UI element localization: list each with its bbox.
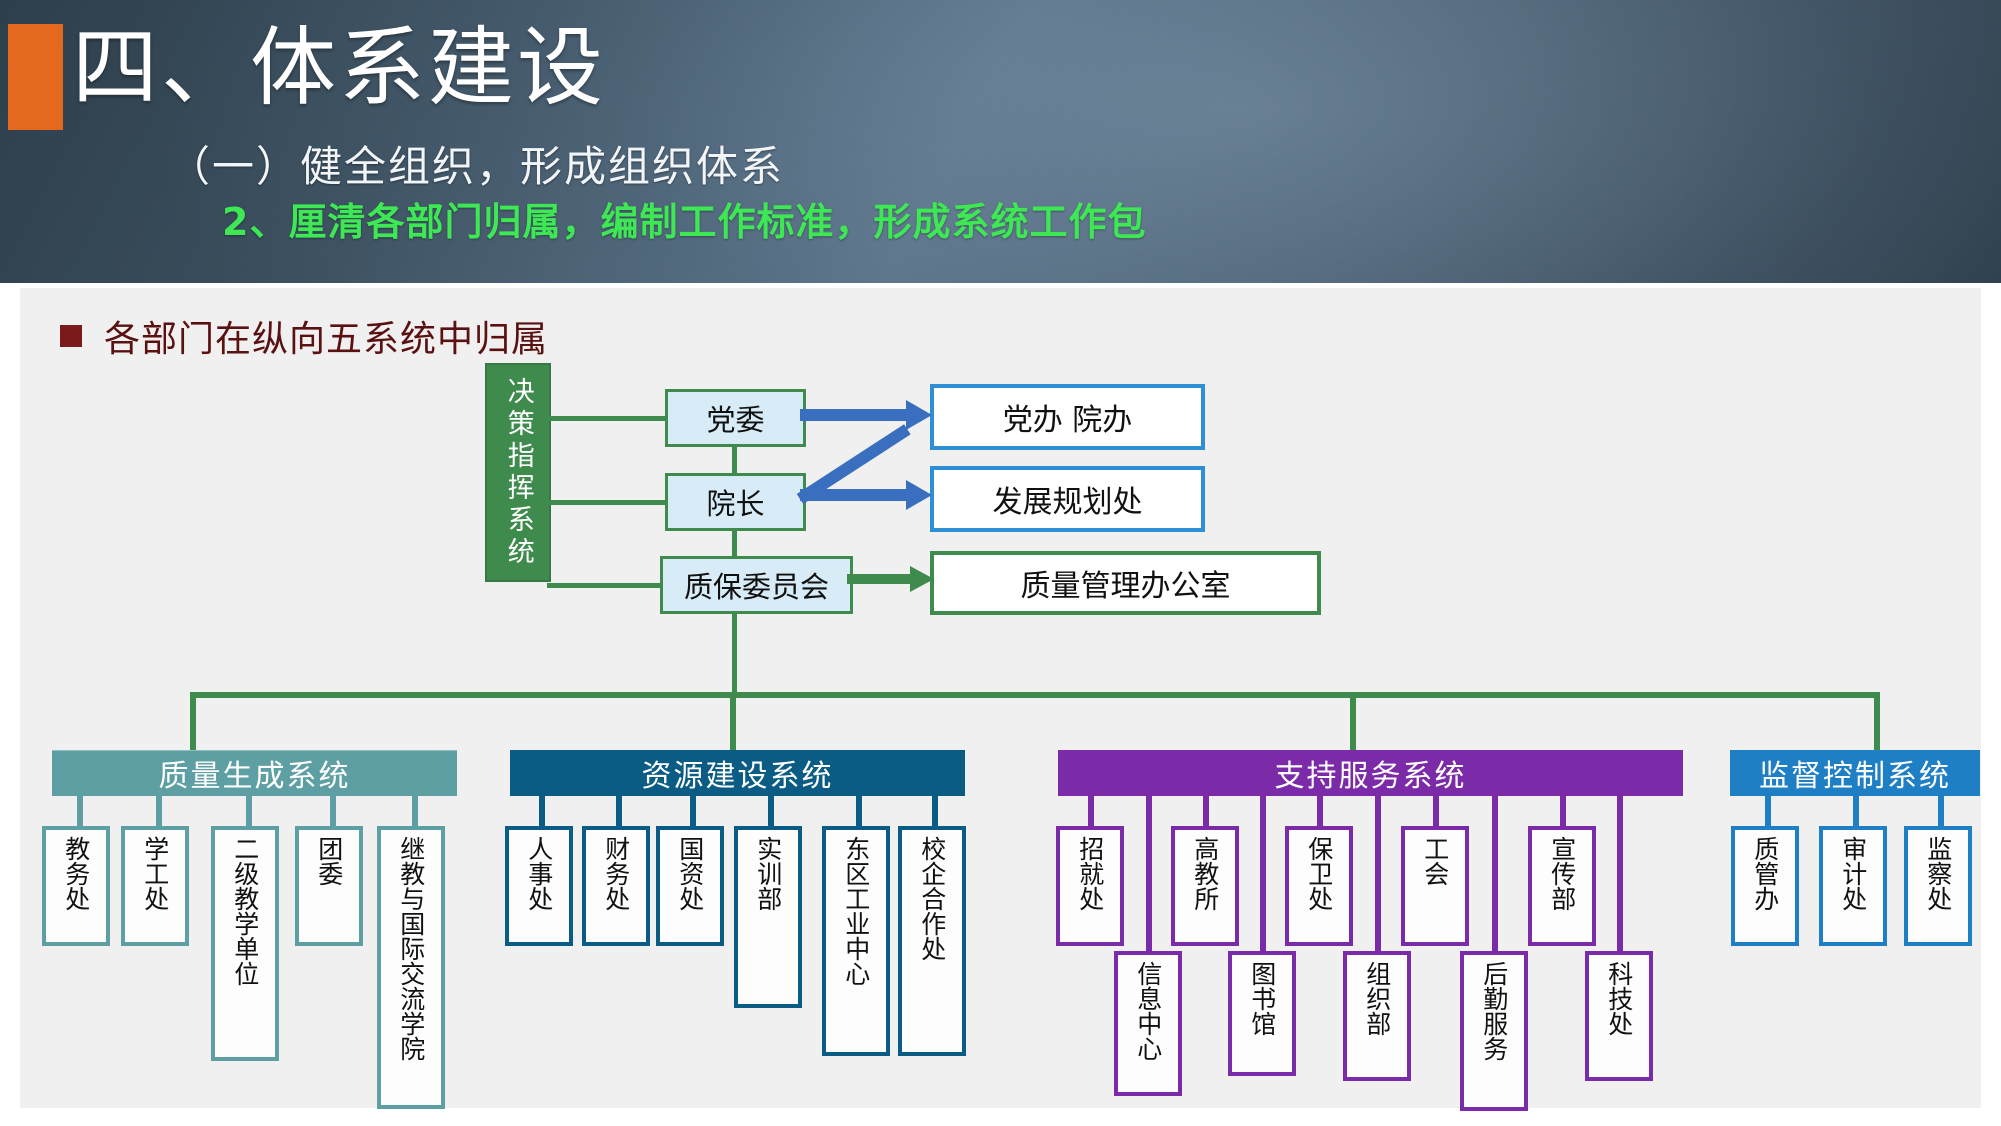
dept-label-security: 保卫处 <box>1306 836 1332 911</box>
node-quality-management-office[interactable]: 质量管理办公室 <box>930 551 1321 615</box>
arrowhead-qa-to-qmo <box>910 566 934 592</box>
stem-ss-r2-1 <box>1146 796 1152 951</box>
arrowhead-party-to-office <box>906 400 932 430</box>
stem-qg-3 <box>246 796 252 826</box>
subtitle-primary: （一）健全组织，形成组织体系 <box>168 142 784 192</box>
dept-box-secondary-teaching-units[interactable]: 二级教学单位 <box>211 826 279 1061</box>
dept-label-student-affairs: 学工处 <box>142 836 168 911</box>
node-party-office[interactable]: 党办 院办 <box>930 384 1205 450</box>
dept-label-finance: 财务处 <box>603 836 629 911</box>
stem-ss-r2-4 <box>1492 796 1498 951</box>
stem-rc-6 <box>932 796 938 826</box>
stem-ss-3 <box>1317 796 1323 826</box>
dept-box-science-technology[interactable]: 科技处 <box>1585 951 1653 1081</box>
node-development-planning[interactable]: 发展规划处 <box>930 466 1205 532</box>
dept-label-admissions-employment: 招就处 <box>1077 836 1103 911</box>
accent-bar <box>8 24 63 130</box>
dept-label-quality-management: 质管办 <box>1752 836 1778 911</box>
decision-command-system-label: 决策指挥系统 <box>504 377 532 569</box>
connector-decision-party <box>547 416 667 421</box>
dept-label-training-department: 实训部 <box>755 836 781 911</box>
system-header-supervision-control[interactable]: 监督控制系统 <box>1730 750 1980 796</box>
system-header-support-service-label: 支持服务系统 <box>1275 751 1467 795</box>
content-panel: 各部门在纵向五系统中归属 决策指挥系统 党委 院长 质保委员会 党办 院办 发展… <box>20 288 1981 1108</box>
arrowhead-president-to-planning <box>906 480 932 510</box>
dept-box-continuing-international-college[interactable]: 继教与国际交流学院 <box>377 826 445 1109</box>
dept-label-secondary-teaching-units: 二级教学单位 <box>232 836 258 986</box>
stem-qg-4 <box>330 796 336 826</box>
slide-root: 四、体系建设 （一）健全组织，形成组织体系 2、厘清各部门归属，编制工作标准，形… <box>0 0 2001 1126</box>
dept-box-organization-department[interactable]: 组织部 <box>1343 951 1411 1081</box>
dept-box-labor-union[interactable]: 工会 <box>1401 826 1469 946</box>
stem-ss-r2-5 <box>1617 796 1623 951</box>
node-president-label: 院长 <box>706 481 764 523</box>
stem-ss-r2-3 <box>1375 796 1381 951</box>
dept-label-east-industrial-center: 东区工业中心 <box>843 836 869 986</box>
stem-rc-4 <box>768 796 774 826</box>
dept-label-labor-union: 工会 <box>1422 836 1448 886</box>
arrow-qa-to-qmo <box>847 574 917 584</box>
system-header-support-service[interactable]: 支持服务系统 <box>1058 750 1683 796</box>
stem-rc-5 <box>856 796 862 826</box>
arrow-party-to-office <box>800 409 912 421</box>
dept-label-audit: 审计处 <box>1840 836 1866 911</box>
decision-command-system[interactable]: 决策指挥系统 <box>485 363 551 582</box>
dept-box-security[interactable]: 保卫处 <box>1285 826 1353 946</box>
system-header-resource-construction[interactable]: 资源建设系统 <box>510 750 965 796</box>
slide-header: 四、体系建设 （一）健全组织，形成组织体系 2、厘清各部门归属，编制工作标准，形… <box>0 0 2001 283</box>
dept-label-information-center: 信息中心 <box>1135 961 1161 1061</box>
dept-box-quality-management[interactable]: 质管办 <box>1731 826 1799 946</box>
node-development-planning-label: 发展规划处 <box>993 477 1143 521</box>
stem-qg-1 <box>77 796 83 826</box>
dept-box-admissions-employment[interactable]: 招就处 <box>1056 826 1124 946</box>
node-president[interactable]: 院长 <box>665 473 806 531</box>
connector-system-bus <box>190 692 1880 698</box>
node-quality-management-office-label: 质量管理办公室 <box>1021 561 1231 605</box>
node-party-committee[interactable]: 党委 <box>665 389 806 447</box>
dept-box-inspection[interactable]: 监察处 <box>1904 826 1972 946</box>
stem-ss-1 <box>1088 796 1094 826</box>
dept-box-higher-education-institute[interactable]: 高教所 <box>1171 826 1239 946</box>
dept-box-school-enterprise-cooperation[interactable]: 校企合作处 <box>898 826 966 1056</box>
dept-box-training-department[interactable]: 实训部 <box>734 826 802 1008</box>
node-qa-committee[interactable]: 质保委员会 <box>660 556 853 614</box>
stem-rc-1 <box>539 796 545 826</box>
dept-box-youth-league[interactable]: 团委 <box>295 826 363 946</box>
stem-rc-2 <box>616 796 622 826</box>
dept-label-logistics-service: 后勤服务 <box>1481 961 1507 1061</box>
system-header-supervision-control-label: 监督控制系统 <box>1759 751 1951 795</box>
connector-spine-to-bus <box>732 608 737 695</box>
stem-sc-3 <box>1938 796 1944 826</box>
stem-qg-5 <box>412 796 418 826</box>
connector-decision-president <box>547 500 667 505</box>
connector-bus-drop-1 <box>190 692 196 754</box>
dept-box-propaganda[interactable]: 宣传部 <box>1528 826 1596 946</box>
stem-ss-r2-2 <box>1260 796 1266 951</box>
connector-bus-drop-4 <box>1874 692 1880 754</box>
dept-label-youth-league: 团委 <box>316 836 342 886</box>
dept-box-academic-affairs[interactable]: 教务处 <box>42 826 110 946</box>
connector-decision-qa <box>547 583 662 588</box>
dept-label-state-assets: 国资处 <box>677 836 703 911</box>
dept-label-organization-department: 组织部 <box>1364 961 1390 1036</box>
bullet-heading-label: 各部门在纵向五系统中归属 <box>104 310 548 362</box>
dept-box-personnel[interactable]: 人事处 <box>505 826 573 946</box>
dept-label-propaganda: 宣传部 <box>1549 836 1575 911</box>
dept-label-science-technology: 科技处 <box>1606 961 1632 1036</box>
node-qa-committee-label: 质保委员会 <box>684 564 829 606</box>
bullet-heading: 各部门在纵向五系统中归属 <box>60 310 548 362</box>
dept-label-continuing-international-college: 继教与国际交流学院 <box>398 836 424 1061</box>
node-party-office-label: 党办 院办 <box>1003 395 1133 439</box>
bullet-square-icon <box>60 325 82 347</box>
stem-qg-2 <box>156 796 162 826</box>
system-header-resource-construction-label: 资源建设系统 <box>642 751 834 795</box>
dept-label-academic-affairs: 教务处 <box>63 836 89 911</box>
stem-ss-2 <box>1203 796 1209 826</box>
arrow-president-to-planning <box>800 489 912 501</box>
dept-label-school-enterprise-cooperation: 校企合作处 <box>919 836 945 961</box>
stem-ss-5 <box>1560 796 1566 826</box>
system-header-quality-generation-label: 质量生成系统 <box>159 751 351 795</box>
system-header-quality-generation[interactable]: 质量生成系统 <box>52 750 457 796</box>
dept-box-student-affairs[interactable]: 学工处 <box>121 826 189 946</box>
dept-label-inspection: 监察处 <box>1925 836 1951 911</box>
dept-box-library[interactable]: 图书馆 <box>1228 951 1296 1076</box>
page-title: 四、体系建设 <box>72 14 606 122</box>
stem-sc-2 <box>1853 796 1859 826</box>
dept-box-audit[interactable]: 审计处 <box>1819 826 1887 946</box>
dept-box-state-assets[interactable]: 国资处 <box>656 826 724 946</box>
dept-box-finance[interactable]: 财务处 <box>582 826 650 946</box>
stem-ss-4 <box>1433 796 1439 826</box>
dept-label-library: 图书馆 <box>1249 961 1275 1036</box>
dept-box-east-industrial-center[interactable]: 东区工业中心 <box>822 826 890 1056</box>
dept-label-higher-education-institute: 高教所 <box>1192 836 1218 911</box>
stem-sc-1 <box>1765 796 1771 826</box>
subtitle-highlight: 2、厘清各部门归属，编制工作标准，形成系统工作包 <box>222 199 1146 245</box>
connector-bus-drop-2 <box>730 692 736 754</box>
stem-rc-3 <box>690 796 696 826</box>
dept-box-information-center[interactable]: 信息中心 <box>1114 951 1182 1096</box>
dept-label-personnel: 人事处 <box>526 836 552 911</box>
dept-box-logistics-service[interactable]: 后勤服务 <box>1460 951 1528 1111</box>
node-party-committee-label: 党委 <box>706 397 764 439</box>
connector-bus-drop-3 <box>1350 692 1356 754</box>
